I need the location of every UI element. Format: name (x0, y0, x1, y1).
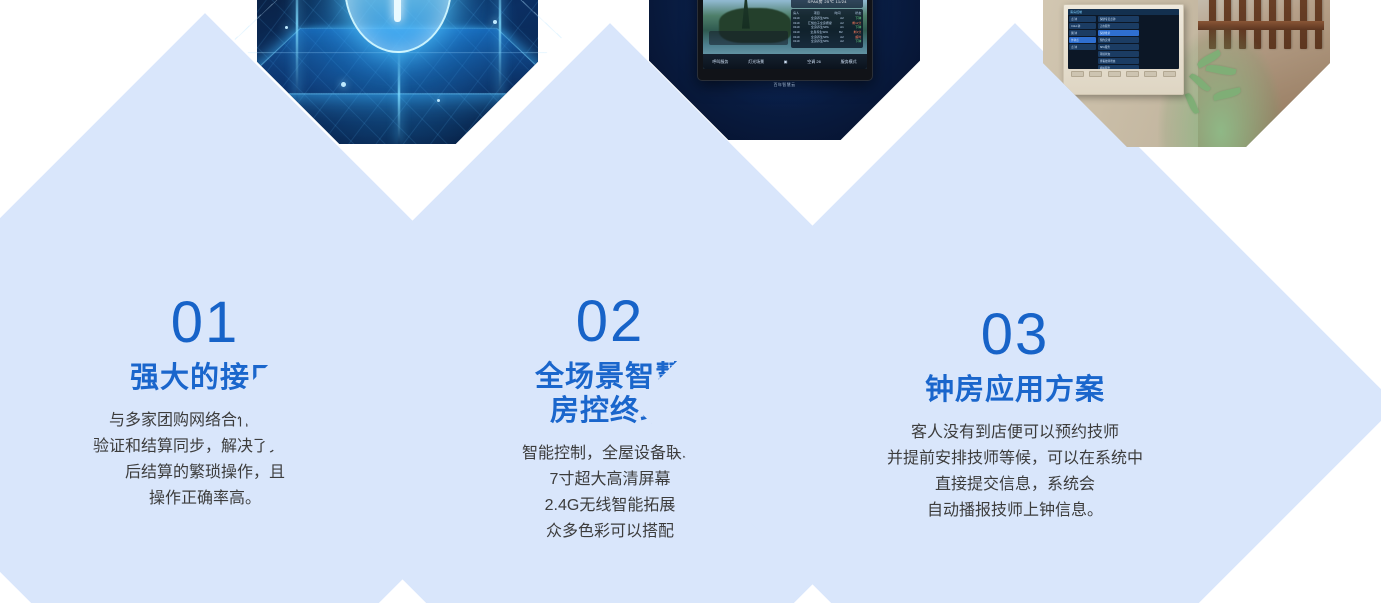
desc-line: 众多色彩可以搭配 (445, 519, 775, 545)
bottom-button: 空调 26 (807, 59, 821, 65)
cell: 全身养生SPA (811, 39, 829, 44)
feature-diamond-section: 01 强大的接口 与多家团购网络合作，团购 验证和结算同步，解决了先验证 后结算… (0, 0, 1381, 603)
leaf (1189, 72, 1211, 94)
panel-columns: 点 钟 CALL钟 圈 钟 外钟点 点 钟 保健专员点钟 正在服务 保健推拿 预… (1068, 15, 1179, 68)
panel-button[interactable] (1163, 71, 1176, 77)
light-beam (296, 0, 298, 99)
panel-button[interactable] (1089, 71, 1102, 77)
tablet-device: 22:35 SPA6房 25℃ 11/24 房人 项目 时间 状态 (697, 0, 873, 81)
light-beam (398, 43, 400, 144)
panel-button[interactable] (1126, 71, 1139, 77)
side-item[interactable]: 点 钟 (1069, 44, 1096, 50)
panel-screen: 客房控制 点 钟 CALL钟 圈 钟 外钟点 点 钟 保健专员点钟 (1068, 9, 1179, 70)
list-item: 0119 全身养生SPA A2 下钟 (793, 39, 861, 44)
card-title: 钟房应用方案 (850, 374, 1180, 408)
menu-item[interactable]: 呼叫服务 (1098, 65, 1139, 70)
menu-item[interactable]: 保健专员点钟 (1098, 15, 1139, 21)
tablet-bottom-bar: 呼叫服务 灯光场景 ▣ 空调 26 服务模式 (703, 54, 867, 69)
panel-button[interactable] (1144, 71, 1157, 77)
side-item[interactable]: CALL钟 (1069, 22, 1096, 28)
panel-hard-buttons (1068, 69, 1179, 77)
tablet-screen: 22:35 SPA6房 25℃ 11/24 房人 项目 时间 状态 (703, 0, 867, 69)
apps-grid-icon: ▣ (784, 59, 788, 64)
desc-line: 并提前安排技师等候，可以在系统中 (850, 446, 1180, 472)
side-item[interactable]: 圈 钟 (1069, 30, 1096, 36)
light-beam (499, 0, 501, 99)
clock-subtitle: SPA6房 25℃ 11/24 (808, 0, 847, 5)
card-title-line: 钟房应用方案 (850, 374, 1180, 408)
menu-item[interactable]: 查看技师状态 (1098, 58, 1139, 64)
card-content: 03 钟房应用方案 客人没有到店便可以预约技师 并提前安排技师等候，可以在系统中… (850, 306, 1180, 524)
card-description: 客人没有到店便可以预约技师 并提前安排技师等候，可以在系统中 直接提交信息，系统… (850, 420, 1180, 524)
menu-item[interactable]: 等候状态 (1098, 50, 1139, 56)
panel-button[interactable] (1071, 71, 1084, 77)
bottom-button: 灯光场景 (748, 59, 764, 65)
bottom-button: 呼叫服务 (712, 59, 728, 65)
panel-menu-grid: 保健专员点钟 正在服务 保健推拿 预约安排 SPA服务 等候状态 查看技师状态 … (1097, 14, 1179, 67)
spark-dot (437, 99, 440, 102)
desc-line: 自动播报技师上钟信息。 (850, 498, 1180, 524)
clock-widget: 22:35 SPA6房 25℃ 11/24 (791, 0, 863, 8)
wall-control-panel[interactable]: 客房控制 点 钟 CALL钟 圈 钟 外钟点 点 钟 保健专员点钟 (1063, 4, 1184, 96)
desc-line: 直接提交信息，系统会 (850, 472, 1180, 498)
card-number: 03 (850, 306, 1180, 364)
device-brand: 百年智慧云 (698, 80, 872, 90)
desc-line: 客人没有到店便可以预约技师 (850, 420, 1180, 446)
leaf (1184, 92, 1199, 115)
cell: 0119 (793, 39, 799, 44)
leaf (1213, 87, 1242, 101)
side-item[interactable]: 点 钟 (1069, 15, 1096, 21)
panel-side-list: 点 钟 CALL钟 圈 钟 外钟点 点 钟 (1068, 14, 1097, 67)
service-list: 房人 项目 时间 状态 0119 全身养生SPA A2 下钟 (791, 9, 863, 48)
cell-status: 下钟 (855, 39, 861, 44)
leaf (1205, 63, 1236, 77)
menu-item[interactable]: SPA服务 (1098, 44, 1139, 50)
side-item[interactable]: 外钟点 (1069, 36, 1096, 42)
bottom-button: 服务模式 (841, 59, 857, 65)
menu-item[interactable]: 正在服务 (1098, 22, 1139, 28)
menu-item-selected[interactable]: 保健推拿 (1098, 29, 1139, 35)
menu-item[interactable]: 预约安排 (1098, 36, 1139, 42)
media-player-widget (709, 31, 788, 46)
cell: A2 (840, 39, 844, 44)
panel-button[interactable] (1108, 71, 1121, 77)
